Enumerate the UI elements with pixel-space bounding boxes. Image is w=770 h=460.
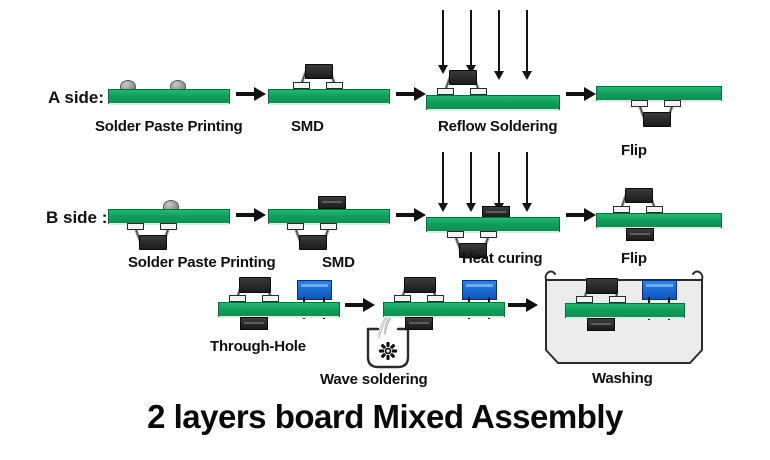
- smd-chip-bottom: [626, 228, 654, 241]
- flow-arrow-right: [508, 298, 538, 317]
- smd-component: [434, 68, 490, 96]
- heat-arrow-down: [526, 10, 528, 72]
- solder-pad: [326, 82, 343, 89]
- solder-pad: [437, 88, 454, 95]
- heat-arrow-down: [470, 152, 472, 204]
- row-label-a-side: A side:: [48, 88, 104, 108]
- pcb-board: [383, 302, 505, 317]
- flow-arrow-right: [566, 87, 596, 106]
- smd-body: [305, 64, 333, 79]
- smd-body: [299, 235, 327, 250]
- pcb-board: [268, 89, 390, 104]
- smd-chip-bottom: [405, 317, 433, 330]
- solder-pad: [229, 295, 246, 302]
- solder-pad: [127, 223, 144, 230]
- solder-pad: [576, 296, 593, 303]
- solder-pad: [613, 206, 630, 213]
- smd-component: [391, 275, 447, 303]
- stage-washing: [538, 268, 710, 368]
- heat-arrow-down: [498, 152, 500, 204]
- smd-body: [139, 235, 167, 250]
- stage-through-hole: [218, 275, 340, 335]
- heat-arrow-down: [526, 152, 528, 204]
- solder-pad: [609, 296, 626, 303]
- heat-arrow-down: [442, 10, 444, 66]
- stage-b-flip: [596, 186, 722, 248]
- smd-component: [573, 276, 629, 304]
- solder-pad: [480, 231, 497, 238]
- assembly-after-wave-soldering: [383, 275, 505, 335]
- stage-label-through-hole: Through-Hole: [210, 338, 306, 355]
- pcb-board: [565, 303, 685, 318]
- smd-component-flipped: [284, 222, 340, 250]
- flow-arrow-right: [236, 208, 266, 227]
- stage-b-heat-curing: [426, 152, 560, 256]
- smd-body: [404, 277, 436, 293]
- smd-body: [643, 112, 671, 127]
- heat-arrow-down: [470, 10, 472, 66]
- stage-label-a-smd: SMD: [291, 118, 324, 135]
- stage-a-smd: [268, 62, 390, 112]
- stage-b-solder-paste-printing: [108, 196, 230, 254]
- smd-body: [625, 188, 653, 203]
- solder-pad: [394, 295, 411, 302]
- solder-pad: [320, 223, 337, 230]
- stage-a-flip: [596, 86, 722, 130]
- stage-label-b-smd: SMD: [322, 254, 355, 271]
- smd-component-flipped: [628, 99, 684, 127]
- solder-pad: [262, 295, 279, 302]
- stage-a-reflow-soldering: [426, 8, 560, 112]
- flow-arrow-right: [566, 208, 596, 227]
- smd-chip-bottom: [587, 318, 615, 331]
- pcb-board: [108, 89, 230, 104]
- smd-chip-bottom: [240, 317, 268, 330]
- stage-label-b-heat-curing: Heat curing: [462, 250, 542, 267]
- flow-arrow-right: [396, 87, 426, 106]
- stage-label-b-flip: Flip: [621, 250, 647, 267]
- smd-component: [226, 275, 282, 303]
- assembly-in-washing-tank: [565, 276, 685, 336]
- smd-component: [610, 186, 666, 214]
- solder-pad: [160, 223, 177, 230]
- smd-chip-top: [318, 196, 346, 209]
- stage-label-b-solder-paste-printing: Solder Paste Printing: [128, 254, 276, 271]
- heat-arrow-down: [498, 10, 500, 72]
- solder-pad: [631, 100, 648, 107]
- stage-label-wave-soldering: Wave soldering: [320, 371, 428, 388]
- pcb-board: [426, 95, 560, 110]
- stage-label-washing: Washing: [592, 370, 653, 387]
- flow-arrow-right: [236, 87, 266, 106]
- solder-pad: [293, 82, 310, 89]
- smd-body: [449, 70, 477, 85]
- component-highlight: [301, 284, 329, 287]
- heat-arrow-down: [442, 152, 444, 204]
- flow-arrow-right: [396, 208, 426, 227]
- smd-body: [239, 277, 271, 293]
- stage-b-smd: [268, 194, 390, 254]
- solder-pad: [664, 100, 681, 107]
- diagram-title: 2 layers board Mixed Assembly: [0, 398, 770, 436]
- smd-component-flipped: [124, 222, 180, 250]
- row-label-b-side: B side :: [46, 208, 107, 228]
- solder-pad: [447, 231, 464, 238]
- stage-label-a-reflow-soldering: Reflow Soldering: [438, 118, 557, 135]
- solder-pad: [427, 295, 444, 302]
- solder-pad: [646, 206, 663, 213]
- component-highlight: [466, 284, 494, 287]
- stage-a-solder-paste-printing: [108, 70, 230, 110]
- smd-body: [586, 278, 618, 294]
- stage-label-a-flip: Flip: [621, 142, 647, 159]
- pcb-board: [218, 302, 340, 317]
- component-highlight: [646, 284, 674, 287]
- pcb-board: [596, 213, 722, 228]
- smd-component: [290, 62, 346, 90]
- solder-pad: [470, 88, 487, 95]
- stage-label-a-solder-paste-printing: Solder Paste Printing: [95, 118, 243, 135]
- solder-pad: [287, 223, 304, 230]
